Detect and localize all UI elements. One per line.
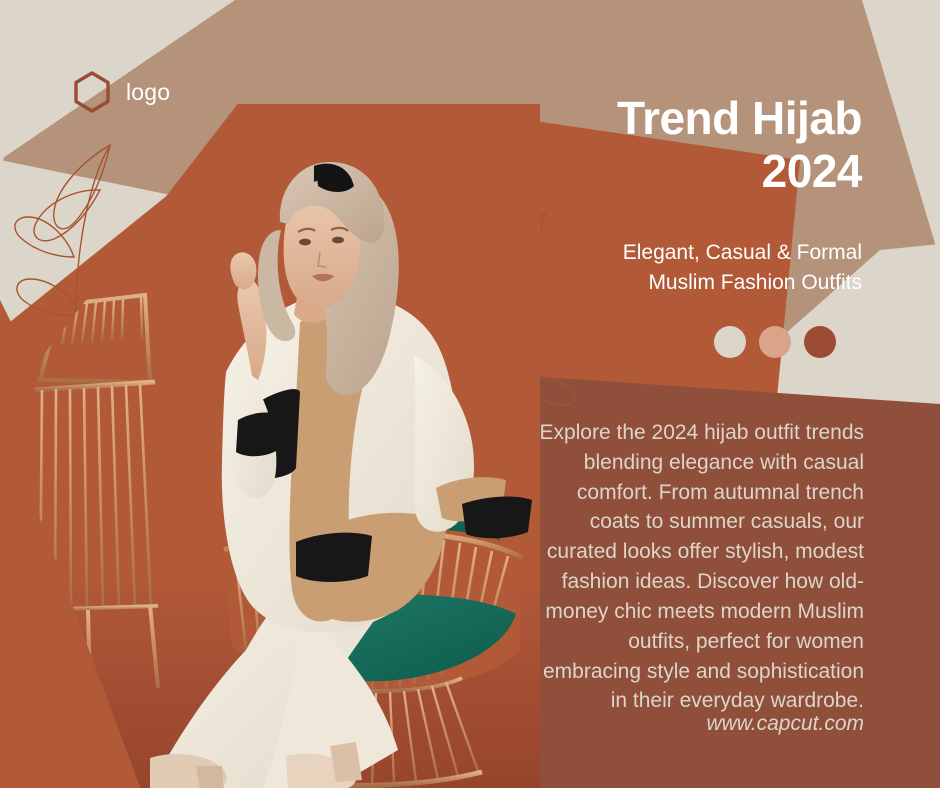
swatch-terracotta: [804, 326, 836, 358]
hexagon-logo-icon: [72, 70, 112, 114]
website-url[interactable]: www.capcut.com: [534, 712, 864, 736]
swatch-salmon: [759, 326, 791, 358]
subtitle: Elegant, Casual & Formal Muslim Fashion …: [442, 238, 862, 299]
page-title: Trend Hijab 2024: [442, 92, 862, 198]
body-paragraph: Explore the 2024 hijab outfit trends ble…: [534, 418, 864, 716]
color-swatch-group: [714, 326, 836, 358]
subtitle-line-2: Muslim Fashion Outfits: [442, 268, 862, 298]
swatch-cream: [714, 326, 746, 358]
logo[interactable]: logo: [72, 70, 170, 114]
subtitle-line-1: Elegant, Casual & Formal: [442, 238, 862, 268]
logo-label: logo: [126, 81, 170, 104]
poster-canvas: logo Trend Hijab 2024 Elegant, Casual & …: [0, 0, 940, 788]
headline-line-1: Trend Hijab: [442, 92, 862, 145]
headline-line-2: 2024: [442, 145, 862, 198]
